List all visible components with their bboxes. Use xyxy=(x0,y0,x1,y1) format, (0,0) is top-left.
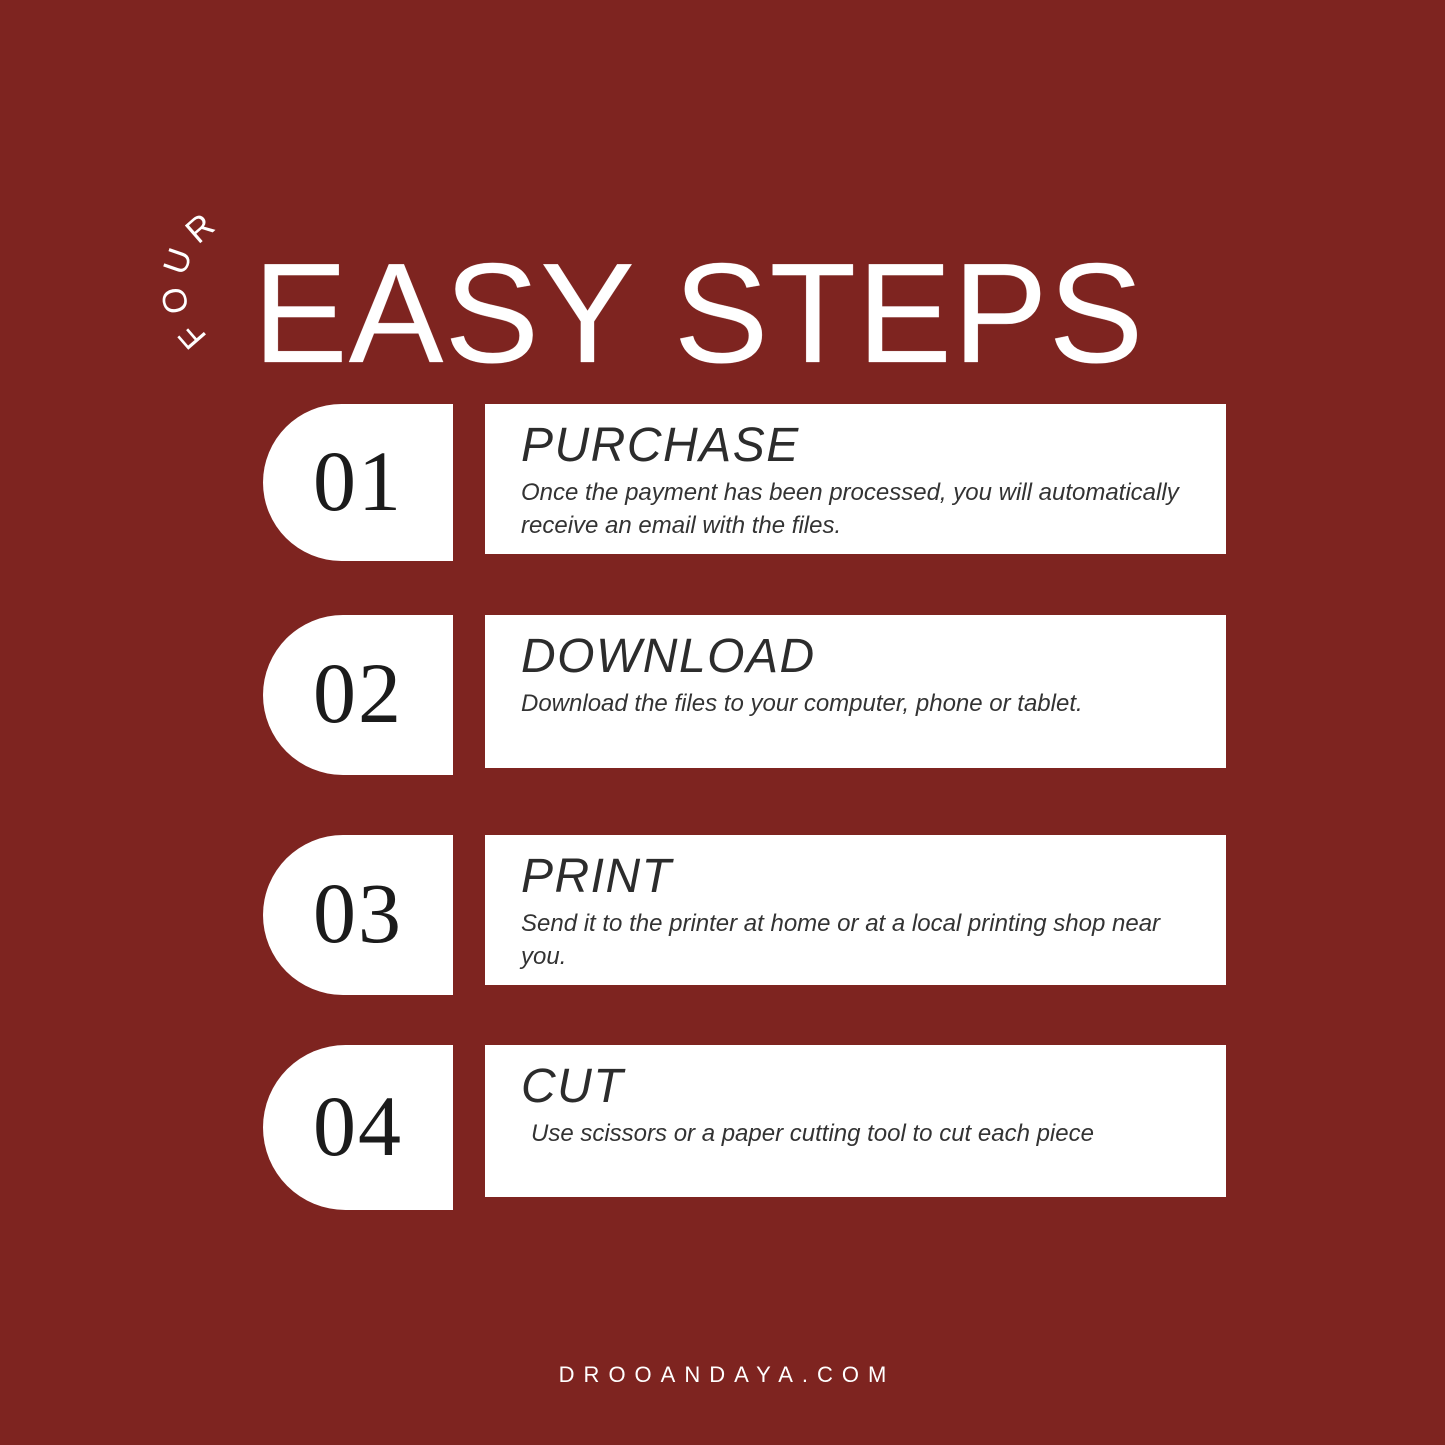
step-number: 04 xyxy=(313,1083,403,1169)
poster-canvas: F O U R EASY STEPS 01 PURCHASE Once the … xyxy=(0,0,1445,1445)
step-content-panel: CUT Use scissors or a paper cutting tool… xyxy=(485,1045,1226,1197)
step-number: 01 xyxy=(313,438,403,524)
step-title: PURCHASE xyxy=(521,420,1200,473)
step-number-badge: 03 xyxy=(263,835,453,995)
step-content-panel: DOWNLOAD Download the files to your comp… xyxy=(485,615,1226,768)
step-number-badge: 04 xyxy=(263,1045,453,1210)
footer-website: DROOANDAYA.COM xyxy=(0,1362,1445,1388)
step-number: 02 xyxy=(313,650,403,736)
step-description: Use scissors or a paper cutting tool to … xyxy=(521,1117,1200,1150)
step-description: Send it to the printer at home or at a l… xyxy=(521,907,1200,973)
steps-list: 01 PURCHASE Once the payment has been pr… xyxy=(0,0,1445,1445)
step-number: 03 xyxy=(313,870,403,956)
step-description: Once the payment has been processed, you… xyxy=(521,476,1200,542)
step-number-badge: 01 xyxy=(263,404,453,561)
step-content-panel: PURCHASE Once the payment has been proce… xyxy=(485,404,1226,554)
step-title: CUT xyxy=(521,1061,1200,1114)
step-content-panel: PRINT Send it to the printer at home or … xyxy=(485,835,1226,985)
step-number-badge: 02 xyxy=(263,615,453,775)
step-title: PRINT xyxy=(521,851,1200,904)
step-title: DOWNLOAD xyxy=(521,631,1200,684)
step-description: Download the files to your computer, pho… xyxy=(521,687,1200,720)
